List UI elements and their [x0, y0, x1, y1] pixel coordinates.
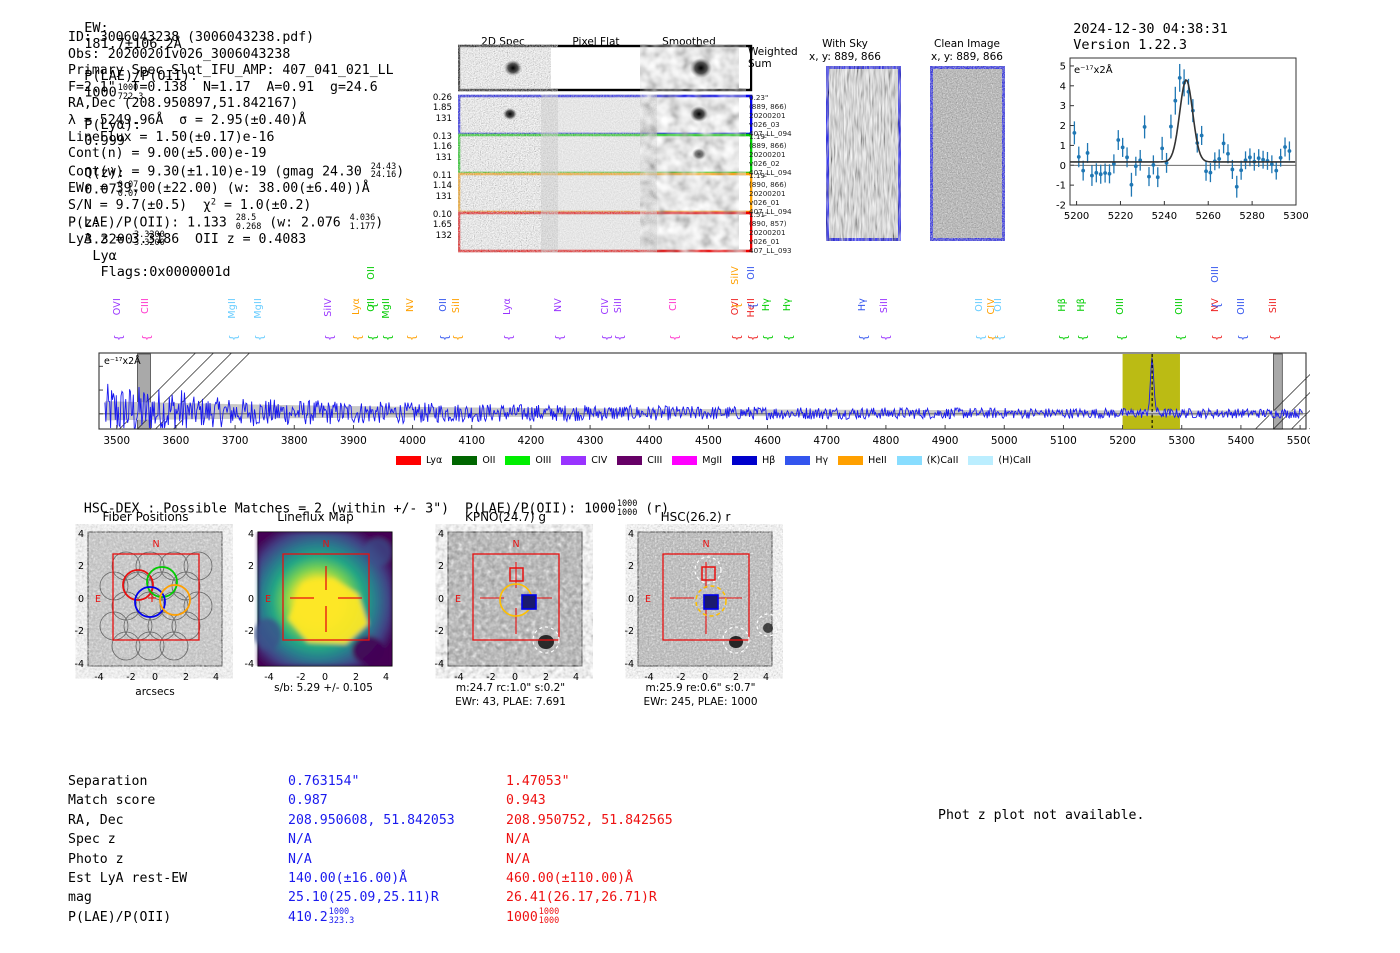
match1-plae: 410.21000323.3	[288, 908, 354, 927]
match-row-label-5: Est LyA rest-EW	[68, 869, 187, 888]
svg-text:4200: 4200	[518, 435, 545, 447]
legend-label-7: Hγ	[815, 455, 828, 466]
match1-plae-value: 410.2	[288, 910, 328, 925]
specrow4-amp: 407_LL_093	[749, 246, 807, 255]
svg-text:2: 2	[438, 561, 444, 572]
legend-swatch-2	[505, 456, 530, 465]
svg-text:5400: 5400	[1228, 435, 1255, 447]
specrow1-val3: 131	[418, 114, 452, 124]
specrow4-val3: 132	[418, 231, 452, 241]
match-comparison-table: SeparationMatch scoreRA, DecSpec zPhoto …	[68, 772, 708, 942]
emission-plot-units: e⁻¹⁷x2Å	[1074, 63, 1113, 76]
specrow-left-labels-4: 0.10 1.65 132	[418, 210, 452, 241]
svg-text:-2: -2	[625, 626, 634, 637]
legend-item-CIII: CIII	[617, 455, 662, 466]
compass-n-lineflux: N	[322, 539, 329, 550]
legend-label-8: HeII	[868, 455, 887, 466]
legend-label-6: Hβ	[762, 455, 775, 466]
svg-text:4700: 4700	[813, 435, 840, 447]
kpno-caption-1: m:24.7 rc:1.0" s:0.2"	[418, 682, 603, 696]
specrow1-exp: v026_03	[749, 120, 807, 129]
svg-text:0: 0	[1060, 161, 1066, 172]
legend-swatch-7	[785, 456, 810, 465]
with-sky-cutout	[826, 66, 901, 241]
svg-text:4100: 4100	[458, 435, 485, 447]
compass-e-fiber: E	[95, 594, 101, 605]
info-primary-spec: Primary Spec_Slot_IFU_AMP: 407_041_021_L…	[68, 63, 404, 80]
match1-value-1: 0.987	[288, 791, 328, 810]
info-id: ID: 3006043238 (3006043238.pdf)	[68, 30, 404, 47]
svg-text:0: 0	[248, 594, 254, 605]
specrow3-exp: v026_01	[749, 198, 807, 207]
compass-n-hsc: N	[702, 539, 709, 550]
info-plae-pre: P(LAE)/P(OII): 1.133	[68, 216, 235, 231]
legend-item-OIII: OIII	[505, 455, 551, 466]
specrow4-val2: 1.65	[418, 220, 452, 230]
match-row-label-6: mag	[68, 888, 92, 907]
lineflux-map-title: Lineflux Map	[228, 510, 403, 524]
hsc-title: HSC(26.2) r	[608, 510, 783, 524]
match2-value-3: N/A	[506, 830, 530, 849]
info-plae-w-lo: 1.177	[350, 222, 376, 232]
legend-item-KCaII: (K)CaII	[897, 455, 959, 466]
svg-text:5280: 5280	[1239, 211, 1264, 222]
svg-text:-4: -4	[625, 659, 634, 670]
match1-value-0: 0.763154"	[288, 772, 359, 791]
panel-lineflux-map: Lineflux Map N E -4-2 024 -4-	[228, 510, 403, 714]
kpno-caption-2: EWr: 43, PLAE: 7.691	[418, 696, 603, 710]
legend-label-1: OII	[482, 455, 495, 466]
svg-text:3500: 3500	[103, 435, 130, 447]
legend-swatch-4	[617, 456, 642, 465]
info-redshifts: LyA z = 3.3186 OII z = 0.4083	[68, 232, 404, 249]
panel-kpno-g: KPNO(24.7) g N E -4-2 024 -4-2 024 m:24.…	[418, 510, 593, 714]
clean-image-cutout	[930, 66, 1005, 241]
svg-text:-1: -1	[1056, 181, 1066, 192]
match2-value-1: 0.943	[506, 791, 546, 810]
compass-e-lineflux: E	[265, 594, 271, 605]
legend-swatch-0	[396, 456, 421, 465]
specrow1-date: 20200201	[749, 111, 807, 120]
svg-text:4: 4	[78, 529, 84, 540]
svg-text:3800: 3800	[281, 435, 308, 447]
info-ewr: EWr = 39.00(±22.00) (w: 38.00(±6.40))Å	[68, 181, 404, 198]
specrow3-date: 20200201	[749, 189, 807, 198]
svg-text:5300: 5300	[1283, 211, 1308, 222]
hsc-caption-2: EWr: 245, PLAE: 1000	[608, 696, 793, 710]
legend-swatch-5	[672, 456, 697, 465]
match-row-label-1: Match score	[68, 791, 155, 810]
panel-hsc-r: HSC(26.2) r N E -4-2 024 -4-2 024 m:25.9…	[608, 510, 783, 714]
specrow3-val3: 131	[418, 192, 452, 202]
svg-text:-2: -2	[75, 626, 84, 637]
specrow3-val2: 1.14	[418, 181, 452, 191]
hsc-caption-1: m:25.9 re:0.6" s:0.7"	[608, 682, 793, 696]
info-plae-post: )	[375, 216, 383, 231]
match1-value-4: N/A	[288, 850, 312, 869]
with-sky-title: With Sky	[790, 38, 900, 50]
full-spectrum-svg: e⁻¹⁷x2Å 0.02.55.0 3500360037003800390040…	[95, 278, 1310, 448]
with-sky-subtitle: x, y: 889, 866	[790, 51, 900, 63]
info-seeing: F=2.1" T=0.138 N=1.17 A=0.91 g=24.6	[68, 80, 404, 97]
match2-value-2: 208.950752, 51.842565	[506, 811, 673, 830]
svg-text:4: 4	[213, 672, 219, 683]
info-cont-w: Cont(w) = 9.30(±1.10)e-19 (gmag 24.30 24…	[68, 163, 404, 181]
svg-text:4: 4	[248, 529, 254, 540]
info-obs: Obs: 20200201v026_3006043238	[68, 47, 404, 64]
info-cont-n: Cont(n) = 9.00(±5.00)e-19	[68, 146, 404, 163]
info-radec: RA,Dec (208.950897,51.842167)	[68, 96, 404, 113]
specrow2-date: 20200201	[749, 150, 807, 159]
specrow2-val3: 131	[418, 153, 452, 163]
specrow3-val1: 0.11	[418, 171, 452, 181]
info-plae: P(LAE)/P(OII): 1.133 28.50.268 (w: 2.076…	[68, 214, 404, 232]
svg-text:5100: 5100	[1050, 435, 1077, 447]
kpno-title: KPNO(24.7) g	[418, 510, 593, 524]
specrow1-dist: 0.23"	[749, 93, 807, 102]
svg-text:0: 0	[628, 594, 634, 605]
specrow2-val2: 1.16	[418, 142, 452, 152]
fiber-positions-title: Fiber Positions	[58, 510, 233, 524]
svg-text:4500: 4500	[695, 435, 722, 447]
svg-text:3700: 3700	[222, 435, 249, 447]
svg-text:0: 0	[78, 594, 84, 605]
svg-text:4300: 4300	[577, 435, 604, 447]
clean-image-subtitle: x, y: 889, 866	[912, 51, 1022, 63]
match1-value-5: 140.00(±16.00)Å	[288, 869, 407, 888]
cont-w-pre: Cont(w) = 9.30(±1.10)e-19 (gmag 24.30	[68, 164, 370, 179]
match-row-label-2: RA, Dec	[68, 811, 124, 830]
match2-plae-lo: 1000	[539, 916, 559, 926]
info-lineflux: LineFlux = 1.50(±0.17)e-16	[68, 130, 404, 147]
specrow-left-labels-2: 0.13 1.16 131	[418, 132, 452, 163]
specrow2-exp: v026_02	[749, 159, 807, 168]
compass-e-hsc: E	[645, 594, 651, 605]
svg-text:2: 2	[248, 561, 254, 572]
svg-text:4: 4	[628, 529, 634, 540]
twod-spec-panel-group: 2D Spec Pixel Flat Smoothed	[458, 36, 758, 261]
source-info-block: ID: 3006043238 (3006043238.pdf) Obs: 202…	[68, 30, 404, 249]
fiber-positions-image: N E -4-2 024 -4-2 024 arcsecs	[58, 524, 233, 714]
spectrum-units: e⁻¹⁷x2Å	[104, 355, 141, 367]
timestamp: 2024-12-30 04:38:31	[1073, 21, 1227, 37]
svg-text:0: 0	[152, 672, 158, 683]
lineflux-caption: s/b: 5.29 +/- 0.105	[236, 682, 411, 694]
legend-item-HCaII: (H)CaII	[968, 455, 1031, 466]
specrow1-val1: 0.26	[418, 93, 452, 103]
legend-label-2: OIII	[535, 455, 551, 466]
specrow1-val2: 1.85	[418, 103, 452, 113]
legend-swatch-9	[897, 456, 922, 465]
specrow3-dist: 1.19"	[749, 171, 807, 180]
match-row-label-4: Photo z	[68, 850, 124, 869]
specrow-right-labels-4: 1.51" (890, 857) 20200201 v026_01 407_LL…	[749, 210, 807, 255]
legend-item-H: Hγ	[785, 455, 828, 466]
header-meta: 2024-12-30 04:38:31 Version 1.22.3	[1057, 5, 1236, 53]
svg-text:4900: 4900	[932, 435, 959, 447]
specrow3-xy: (890, 866)	[749, 180, 807, 189]
cont-w-lo: 24.16	[371, 170, 397, 180]
legend-label-10: (H)CaII	[998, 455, 1031, 466]
specrow2-xy: (889, 866)	[749, 141, 807, 150]
legend-item-Ly: Lyα	[396, 455, 442, 466]
legend-swatch-8	[838, 456, 863, 465]
legend-swatch-10	[968, 456, 993, 465]
svg-text:5000: 5000	[991, 435, 1018, 447]
svg-text:3900: 3900	[340, 435, 367, 447]
specrow1-xy: (889, 866)	[749, 102, 807, 111]
legend-item-CIV: CIV	[561, 455, 607, 466]
match-row-label-3: Spec z	[68, 830, 116, 849]
specrow2-dist: 1.19"	[749, 132, 807, 141]
legend-item-MgII: MgII	[672, 455, 722, 466]
svg-text:-4: -4	[94, 672, 103, 683]
compass-n-fiber: N	[152, 539, 159, 550]
sn-pre: S/N = 9.7(±0.5) χ	[68, 198, 211, 213]
match1-plae-lo: 323.3	[329, 916, 355, 926]
svg-text:5220: 5220	[1108, 211, 1133, 222]
svg-text:5500: 5500	[1287, 435, 1310, 447]
twod-spec-svg	[458, 36, 758, 261]
svg-text:5: 5	[1060, 61, 1066, 72]
legend-item-OII: OII	[452, 455, 495, 466]
emission-line-plot: e⁻¹⁷x2Å -2-1012345 520052205240526052805…	[1030, 48, 1310, 243]
legend-swatch-3	[561, 456, 586, 465]
compass-e-kpno: E	[455, 594, 461, 605]
svg-text:-2: -2	[435, 626, 444, 637]
legend-label-0: Lyα	[426, 455, 442, 466]
z-type: Lyα	[92, 248, 116, 264]
svg-text:2: 2	[78, 561, 84, 572]
match-row-label-7: P(LAE)/P(OII)	[68, 908, 171, 927]
specrow4-exp: v026_01	[749, 237, 807, 246]
svg-text:-2: -2	[245, 626, 254, 637]
svg-text:-2: -2	[1056, 201, 1066, 212]
legend-item-H: Hβ	[732, 455, 775, 466]
specrow-left-labels-1: 0.26 1.85 131	[418, 93, 452, 124]
match2-value-4: N/A	[506, 850, 530, 869]
match1-value-3: N/A	[288, 830, 312, 849]
svg-text:-4: -4	[435, 659, 444, 670]
info-wavelength: λ = 5249.96Å σ = 2.95(±0.40)Å	[68, 113, 404, 130]
specrow4-xy: (890, 857)	[749, 219, 807, 228]
svg-text:-4: -4	[245, 659, 254, 670]
svg-text:4600: 4600	[754, 435, 781, 447]
legend-label-4: CIII	[647, 455, 662, 466]
svg-text:4400: 4400	[636, 435, 663, 447]
svg-text:5200: 5200	[1064, 211, 1089, 222]
cont-w-post: )	[396, 164, 404, 179]
specrow4-dist: 1.51"	[749, 210, 807, 219]
svg-text:4800: 4800	[873, 435, 900, 447]
svg-text:4: 4	[438, 529, 444, 540]
svg-text:5240: 5240	[1152, 211, 1177, 222]
clean-image-title: Clean Image	[912, 38, 1022, 50]
match-row-label-0: Separation	[68, 772, 147, 791]
specrow4-val1: 0.10	[418, 210, 452, 220]
svg-text:4: 4	[1060, 81, 1066, 92]
photz-message: Phot z plot not available.	[938, 808, 1144, 823]
svg-text:3: 3	[1060, 101, 1066, 112]
match1-value-6: 25.10(25.09,25.11)R	[288, 888, 439, 907]
legend-item-HeII: HeII	[838, 455, 887, 466]
info-plae-lo: 0.268	[236, 222, 262, 232]
svg-text:1: 1	[1060, 141, 1066, 152]
specrow4-date: 20200201	[749, 228, 807, 237]
svg-text:2: 2	[628, 561, 634, 572]
specrow2-val1: 0.13	[418, 132, 452, 142]
svg-text:5200: 5200	[1109, 435, 1136, 447]
match2-plae: 100010001000	[506, 908, 559, 927]
legend-swatch-1	[452, 456, 477, 465]
svg-text:0: 0	[438, 594, 444, 605]
spectrum-legend: LyαOIIOIIICIVCIIIMgIIHβHγHeII(K)CaII(H)C…	[396, 455, 1041, 466]
legend-label-5: MgII	[702, 455, 722, 466]
svg-text:5260: 5260	[1196, 211, 1221, 222]
match2-value-0: 1.47053"	[506, 772, 570, 791]
match2-plae-value: 1000	[506, 910, 538, 925]
svg-text:2: 2	[183, 672, 189, 683]
svg-text:2: 2	[1060, 121, 1066, 132]
legend-label-9: (K)CaII	[927, 455, 959, 466]
match1-value-2: 208.950608, 51.842053	[288, 811, 455, 830]
svg-text:4000: 4000	[399, 435, 426, 447]
legend-label-3: CIV	[591, 455, 607, 466]
panel-fiber-positions: Fiber Positions N E -4-2 024 -4-2 024 ar…	[58, 510, 233, 714]
specrow-left-labels-3: 0.11 1.14 131	[418, 171, 452, 202]
svg-text:-2: -2	[126, 672, 135, 683]
legend-swatch-6	[732, 456, 757, 465]
compass-n-kpno: N	[512, 539, 519, 550]
svg-text:-4: -4	[75, 659, 84, 670]
sn-post: = 1.0(±0.2)	[216, 198, 311, 213]
svg-text:5300: 5300	[1168, 435, 1195, 447]
match2-value-6: 26.41(26.17,26.71)R	[506, 888, 657, 907]
svg-text:3600: 3600	[163, 435, 190, 447]
info-plae-mid: (w: 2.076	[261, 216, 348, 231]
info-sn: S/N = 9.7(±0.5) χ2 = 1.0(±0.2)	[68, 198, 404, 215]
full-spectrum-panel: OVI{CIII{MgII{MgII{SiIV{Lyα{OII{OII{MgII…	[95, 278, 1310, 448]
match2-value-5: 460.00(±110.00)Å	[506, 869, 633, 888]
fiber-xlabel: arcsecs	[135, 686, 174, 698]
